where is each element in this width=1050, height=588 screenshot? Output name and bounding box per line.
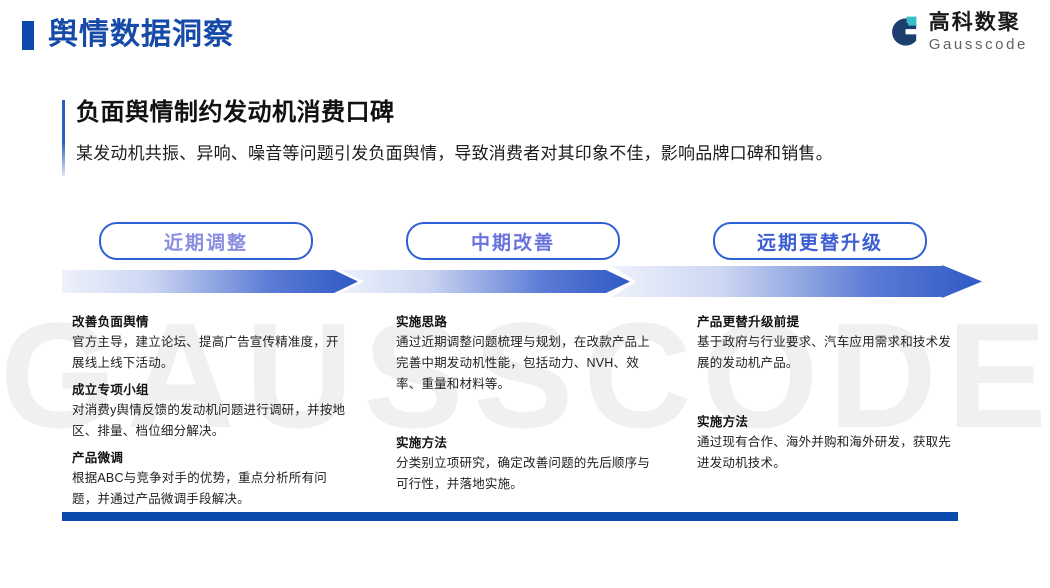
detail-block-body: 官方主导，建立论坛、提高广告宣传精准度，开展线上线下活动。 xyxy=(72,332,350,374)
detail-block: 实施方法 通过现有合作、海外并购和海外研发，获取先进发动机技术。 xyxy=(697,412,959,474)
detail-block-title: 实施方法 xyxy=(697,412,959,432)
detail-block: 产品微调 根据ABC与竞争对手的优势，重点分析所有问题，并通过产品微调手段解决。 xyxy=(72,448,350,510)
lead-block: 负面舆情制约发动机消费口碑 某发动机共振、异响、噪音等问题引发负面舆情，导致消费… xyxy=(62,96,962,167)
stage-column-long-term: 产品更替升级前提 基于政府与行业要求、汽车应用需求和技术发展的发动机产品。 实施… xyxy=(697,312,959,476)
stage-pill-mid-term[interactable]: 中期改善 xyxy=(406,222,620,260)
footer-accent-bar xyxy=(62,512,958,521)
detail-block-title: 产品更替升级前提 xyxy=(697,312,959,332)
stage-pill-long-term[interactable]: 远期更替升级 xyxy=(713,222,927,260)
detail-block-body: 基于政府与行业要求、汽车应用需求和技术发展的发动机产品。 xyxy=(697,332,959,374)
brand-name-en: Gausscode xyxy=(929,37,1028,52)
brand-name-cn: 高科数聚 xyxy=(929,12,1028,33)
detail-block: 实施方法 分类别立项研究，确定改善问题的先后顺序与可行性，并落地实施。 xyxy=(396,433,662,495)
detail-block: 成立专项小组 对消费y舆情反馈的发动机问题进行调研，并按地区、排量、档位细分解决… xyxy=(72,380,350,442)
brand-logo: 高科数聚 Gausscode xyxy=(886,12,1028,52)
stage-pill-near-term[interactable]: 近期调整 xyxy=(99,222,313,260)
detail-block-body: 根据ABC与竞争对手的优势，重点分析所有问题，并通过产品微调手段解决。 xyxy=(72,468,350,510)
lead-subtitle: 某发动机共振、异响、噪音等问题引发负面舆情，导致消费者对其印象不佳，影响品牌口碑… xyxy=(76,141,962,167)
slide-canvas: GAUSSCODE 舆情数据洞察 高科数聚 Gausscode 负面舆情制约发动… xyxy=(0,0,1050,588)
timeline-progress-arrow xyxy=(62,265,982,298)
stage-column-near-term: 改善负面舆情 官方主导，建立论坛、提高广告宣传精准度，开展线上线下活动。 成立专… xyxy=(72,312,350,512)
stage-pill-label: 中期改善 xyxy=(471,228,555,255)
lead-title: 负面舆情制约发动机消费口碑 xyxy=(76,96,962,130)
gausscode-logo-icon xyxy=(886,15,920,49)
stage-column-mid-term: 实施思路 通过近期调整问题梳理与规划，在改款产品上完善中期发动机性能，包括动力、… xyxy=(396,312,662,497)
detail-block: 产品更替升级前提 基于政府与行业要求、汽车应用需求和技术发展的发动机产品。 xyxy=(697,312,959,374)
detail-block-body: 对消费y舆情反馈的发动机问题进行调研，并按地区、排量、档位细分解决。 xyxy=(72,400,350,442)
detail-block: 改善负面舆情 官方主导，建立论坛、提高广告宣传精准度，开展线上线下活动。 xyxy=(72,312,350,374)
detail-block-body: 通过近期调整问题梳理与规划，在改款产品上完善中期发动机性能，包括动力、NVH、效… xyxy=(396,332,662,395)
detail-block-title: 产品微调 xyxy=(72,448,350,468)
stage-pill-group: 近期调整 中期改善 远期更替升级 xyxy=(0,222,1050,258)
detail-block-body: 通过现有合作、海外并购和海外研发，获取先进发动机技术。 xyxy=(697,432,959,474)
detail-block-body: 分类别立项研究，确定改善问题的先后顺序与可行性，并落地实施。 xyxy=(396,453,662,495)
page-title: 舆情数据洞察 xyxy=(48,15,234,55)
detail-block-title: 成立专项小组 xyxy=(72,380,350,400)
detail-block-title: 实施方法 xyxy=(396,433,662,453)
slide-header: 舆情数据洞察 高科数聚 Gausscode xyxy=(0,0,1050,72)
blue-square-marker-icon xyxy=(22,21,34,50)
brand-logo-text: 高科数聚 Gausscode xyxy=(929,12,1028,52)
stage-pill-label: 远期更替升级 xyxy=(757,228,883,255)
stage-pill-label: 近期调整 xyxy=(164,228,248,255)
detail-block-title: 改善负面舆情 xyxy=(72,312,350,332)
detail-block: 实施思路 通过近期调整问题梳理与规划，在改款产品上完善中期发动机性能，包括动力、… xyxy=(396,312,662,395)
lead-accent-rule xyxy=(62,100,65,176)
detail-block-title: 实施思路 xyxy=(396,312,662,332)
